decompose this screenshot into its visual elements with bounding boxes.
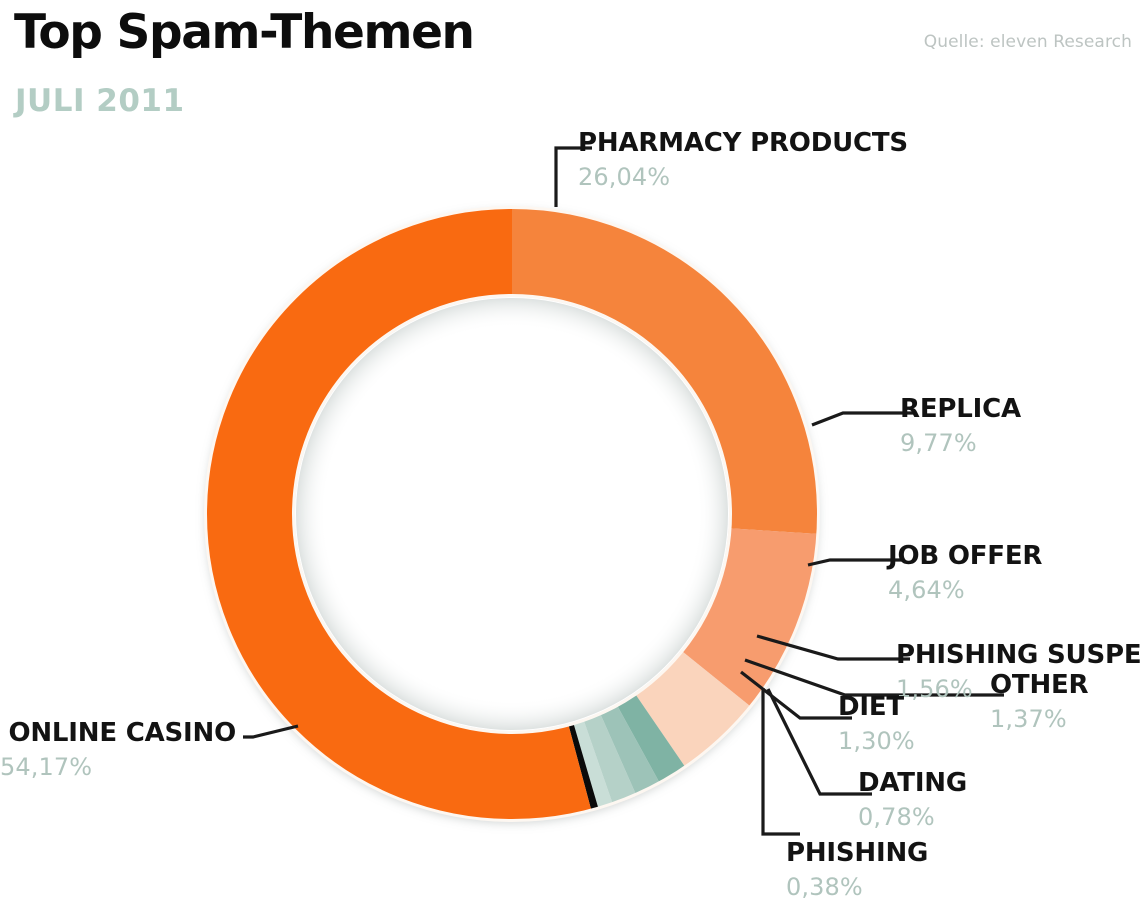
chart-canvas: Top Spam-Themen JULI 2011 Quelle: eleven…: [0, 0, 1140, 900]
callout-value-phishing: 0,38%: [786, 875, 928, 899]
callout-diet[interactable]: DIET 1,30%: [838, 694, 915, 753]
callout-label-dating: DATING: [858, 770, 967, 796]
callout-phishing[interactable]: PHISHING 0,38%: [786, 840, 928, 899]
callout-label-other: OTHER: [990, 672, 1088, 698]
leader-line-phishing: [763, 688, 800, 834]
callout-value-online-casino: 54,17%: [0, 755, 236, 779]
callout-label-phishing: PHISHING: [786, 840, 928, 866]
callout-label-replica: REPLICA: [900, 396, 1021, 422]
callout-value-dating: 0,78%: [858, 805, 967, 829]
callout-value-diet: 1,30%: [838, 729, 915, 753]
leader-line-replica: [812, 413, 914, 425]
callout-online-casino[interactable]: ONLINE CASINO 54,17%: [0, 720, 236, 779]
callout-value-job-offer: 4,64%: [888, 578, 1042, 602]
leader-line-online-casino: [243, 726, 298, 737]
callout-label-diet: DIET: [838, 694, 915, 720]
callout-dating[interactable]: DATING 0,78%: [858, 770, 967, 829]
callout-value-replica: 9,77%: [900, 431, 1021, 455]
callout-label-online-casino: ONLINE CASINO: [0, 720, 236, 746]
callout-pharmacy-products[interactable]: PHARMACY PRODUCTS 26,04%: [578, 130, 908, 189]
callout-replica[interactable]: REPLICA 9,77%: [900, 396, 1021, 455]
callout-label-pharmacy-products: PHARMACY PRODUCTS: [578, 130, 908, 156]
callout-value-other: 1,37%: [990, 707, 1088, 731]
callout-job-offer[interactable]: JOB OFFER 4,64%: [888, 543, 1042, 602]
callout-other[interactable]: OTHER 1,37%: [990, 672, 1088, 731]
callout-label-job-offer: JOB OFFER: [888, 543, 1042, 569]
callout-value-pharmacy-products: 26,04%: [578, 165, 908, 189]
callout-label-phishing-suspect: PHISHING SUSPECT: [896, 642, 1140, 668]
donut-hole-gloss: [296, 298, 728, 730]
